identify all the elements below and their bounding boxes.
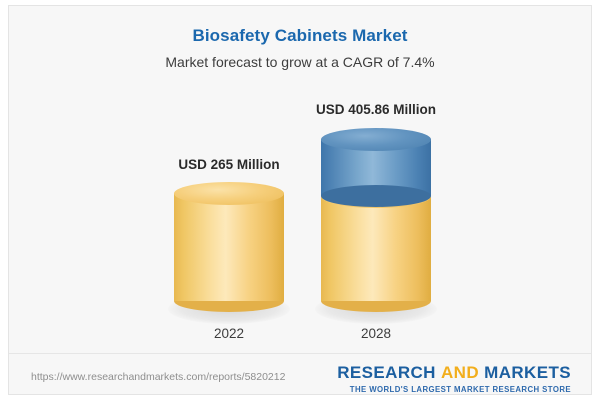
bar-2028[interactable] <box>321 128 431 318</box>
chart-plot-area: USD 265 Million 2022 USD 405.86 Million … <box>9 6 592 354</box>
bar-2022-base-body <box>174 193 284 301</box>
report-url[interactable]: https://www.researchandmarkets.com/repor… <box>31 371 285 383</box>
logo-wordmark: RESEARCH AND MARKETS <box>337 364 571 381</box>
logo-tagline: THE WORLD'S LARGEST MARKET RESEARCH STOR… <box>337 385 571 394</box>
logo-word-and: AND <box>441 363 479 382</box>
research-and-markets-logo[interactable]: RESEARCH AND MARKETS THE WORLD'S LARGEST… <box>337 364 571 394</box>
bar-2028-growth-cap <box>321 185 431 207</box>
bar-2028-growth-top <box>321 128 431 151</box>
logo-word-markets: MARKETS <box>484 363 571 382</box>
bar-2028-value-label: USD 405.86 Million <box>291 102 461 117</box>
bar-2022-base-top <box>174 182 284 205</box>
logo-word-research: RESEARCH <box>337 363 436 382</box>
bar-2022-category-label: 2022 <box>179 326 279 341</box>
bar-2028-category-label: 2028 <box>326 326 426 341</box>
bar-2028-base-body <box>321 196 431 301</box>
bar-2022-value-label: USD 265 Million <box>149 157 309 172</box>
infographic-card: Biosafety Cabinets Market Market forecas… <box>8 5 592 395</box>
footer-divider <box>9 353 592 354</box>
bar-2022[interactable] <box>174 182 284 318</box>
